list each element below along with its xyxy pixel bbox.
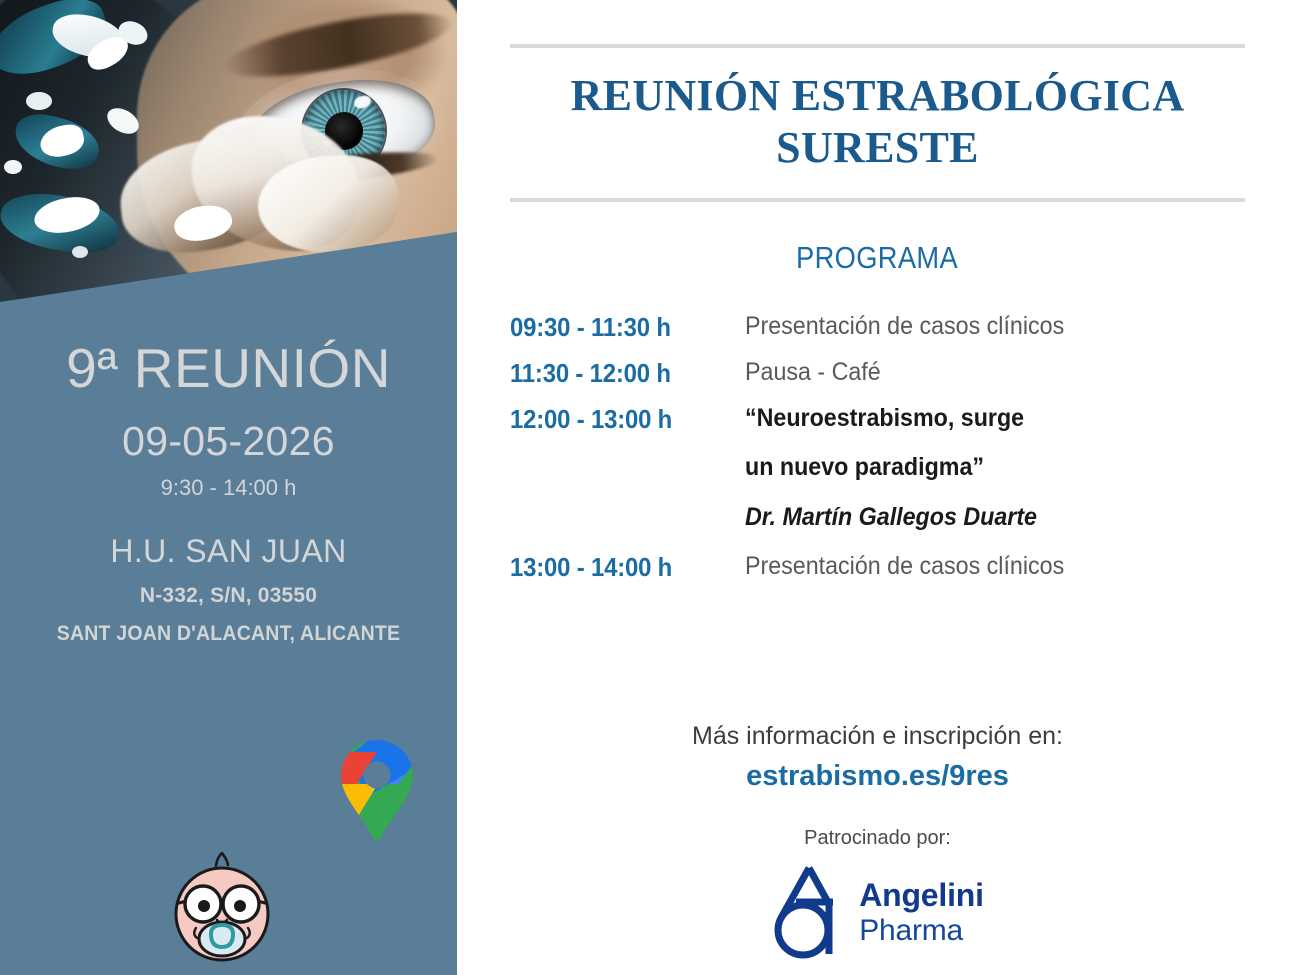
schedule-description-label: Pausa - Café: [745, 356, 881, 390]
schedule-row: 11:30 - 12:00 h Pausa - Café: [510, 356, 1270, 391]
sponsor-label: Patrocinado por:: [510, 827, 1245, 850]
schedule-description: Presentación de casos clínicos: [745, 550, 1270, 584]
venue-city: SANT JOAN D'ALACANT, ALICANTE: [16, 622, 441, 646]
program-heading: PROGRAMA: [510, 240, 1245, 276]
schedule-time: 12:00 - 13:00 h: [510, 402, 745, 437]
angelini-a-o-monogram-icon: [771, 864, 843, 960]
right-column: REUNIÓN ESTRABOLÓGICA SURESTE PROGRAMA 0…: [457, 0, 1300, 975]
page-title: REUNIÓN ESTRABOLÓGICA SURESTE: [510, 70, 1245, 174]
event-date: 09-05-2026: [0, 418, 457, 465]
schedule-row: 13:00 - 14:00 h Presentación de casos cl…: [510, 550, 1270, 585]
left-panel: 9ª REUNIÓN 09-05-2026 9:30 - 14:00 h H.U…: [0, 0, 457, 975]
schedule-description-label: Presentación de casos clínicos: [745, 550, 1064, 584]
schedule-time-label: 09:30 - 11:30 h: [510, 310, 671, 345]
schedule-description: Presentación de casos clínicos: [745, 310, 1270, 344]
baby-face-with-glasses-and-pacifier-icon: [170, 852, 274, 964]
schedule-row: 09:30 - 11:30 h Presentación de casos cl…: [510, 310, 1270, 345]
divider-bottom: [510, 198, 1245, 202]
program-schedule: 09:30 - 11:30 h Presentación de casos cl…: [510, 310, 1270, 596]
more-info-label: Más información e inscripción en:: [510, 722, 1245, 751]
event-details: 9ª REUNIÓN 09-05-2026 9:30 - 14:00 h H.U…: [0, 340, 457, 646]
schedule-time-label: 13:00 - 14:00 h: [510, 550, 672, 585]
schedule-description: Pausa - Café: [745, 356, 1270, 390]
sponsor-subtitle: Pharma: [859, 916, 984, 946]
sponsor-name: Angelini: [859, 879, 984, 911]
event-hours: 9:30 - 14:00 h: [0, 475, 457, 501]
reunion-number: 9ª REUNIÓN: [0, 340, 457, 398]
divider-top: [510, 44, 1245, 48]
program-heading-label: PROGRAMA: [797, 240, 959, 276]
title-line-2: SURESTE: [510, 122, 1245, 174]
sponsor-logo: Angelini Pharma: [510, 864, 1245, 960]
talk-speaker: Dr. Martín Gallegos Duarte: [745, 501, 1233, 535]
sponsor-wordmark: Angelini Pharma: [859, 879, 984, 946]
schedule-time-label: 11:30 - 12:00 h: [510, 356, 671, 391]
schedule-row-featured-talk: 12:00 - 13:00 h “Neuroestrabismo, surge …: [510, 402, 1270, 535]
schedule-description: “Neuroestrabismo, surge un nuevo paradig…: [745, 402, 1270, 535]
venue-street: N-332, S/N, 03550: [0, 584, 457, 608]
schedule-time: 09:30 - 11:30 h: [510, 310, 745, 345]
google-maps-pin-icon[interactable]: [338, 738, 416, 842]
schedule-time-label: 12:00 - 13:00 h: [510, 402, 672, 437]
schedule-time: 13:00 - 14:00 h: [510, 550, 745, 585]
talk-title-line-2: un nuevo paradigma”: [745, 451, 1233, 485]
registration-info: Más información e inscripción en: estrab…: [510, 722, 1245, 960]
title-line-1: REUNIÓN ESTRABOLÓGICA: [510, 70, 1245, 122]
registration-link[interactable]: estrabismo.es/9res: [510, 760, 1245, 793]
schedule-time: 11:30 - 12:00 h: [510, 356, 745, 391]
venue-name: H.U. SAN JUAN: [0, 533, 457, 570]
event-poster: 9ª REUNIÓN 09-05-2026 9:30 - 14:00 h H.U…: [0, 0, 1300, 975]
schedule-description-label: Presentación de casos clínicos: [745, 310, 1064, 344]
talk-title-line-1: “Neuroestrabismo, surge: [745, 402, 1233, 436]
eye-water-photo: [0, 0, 457, 305]
